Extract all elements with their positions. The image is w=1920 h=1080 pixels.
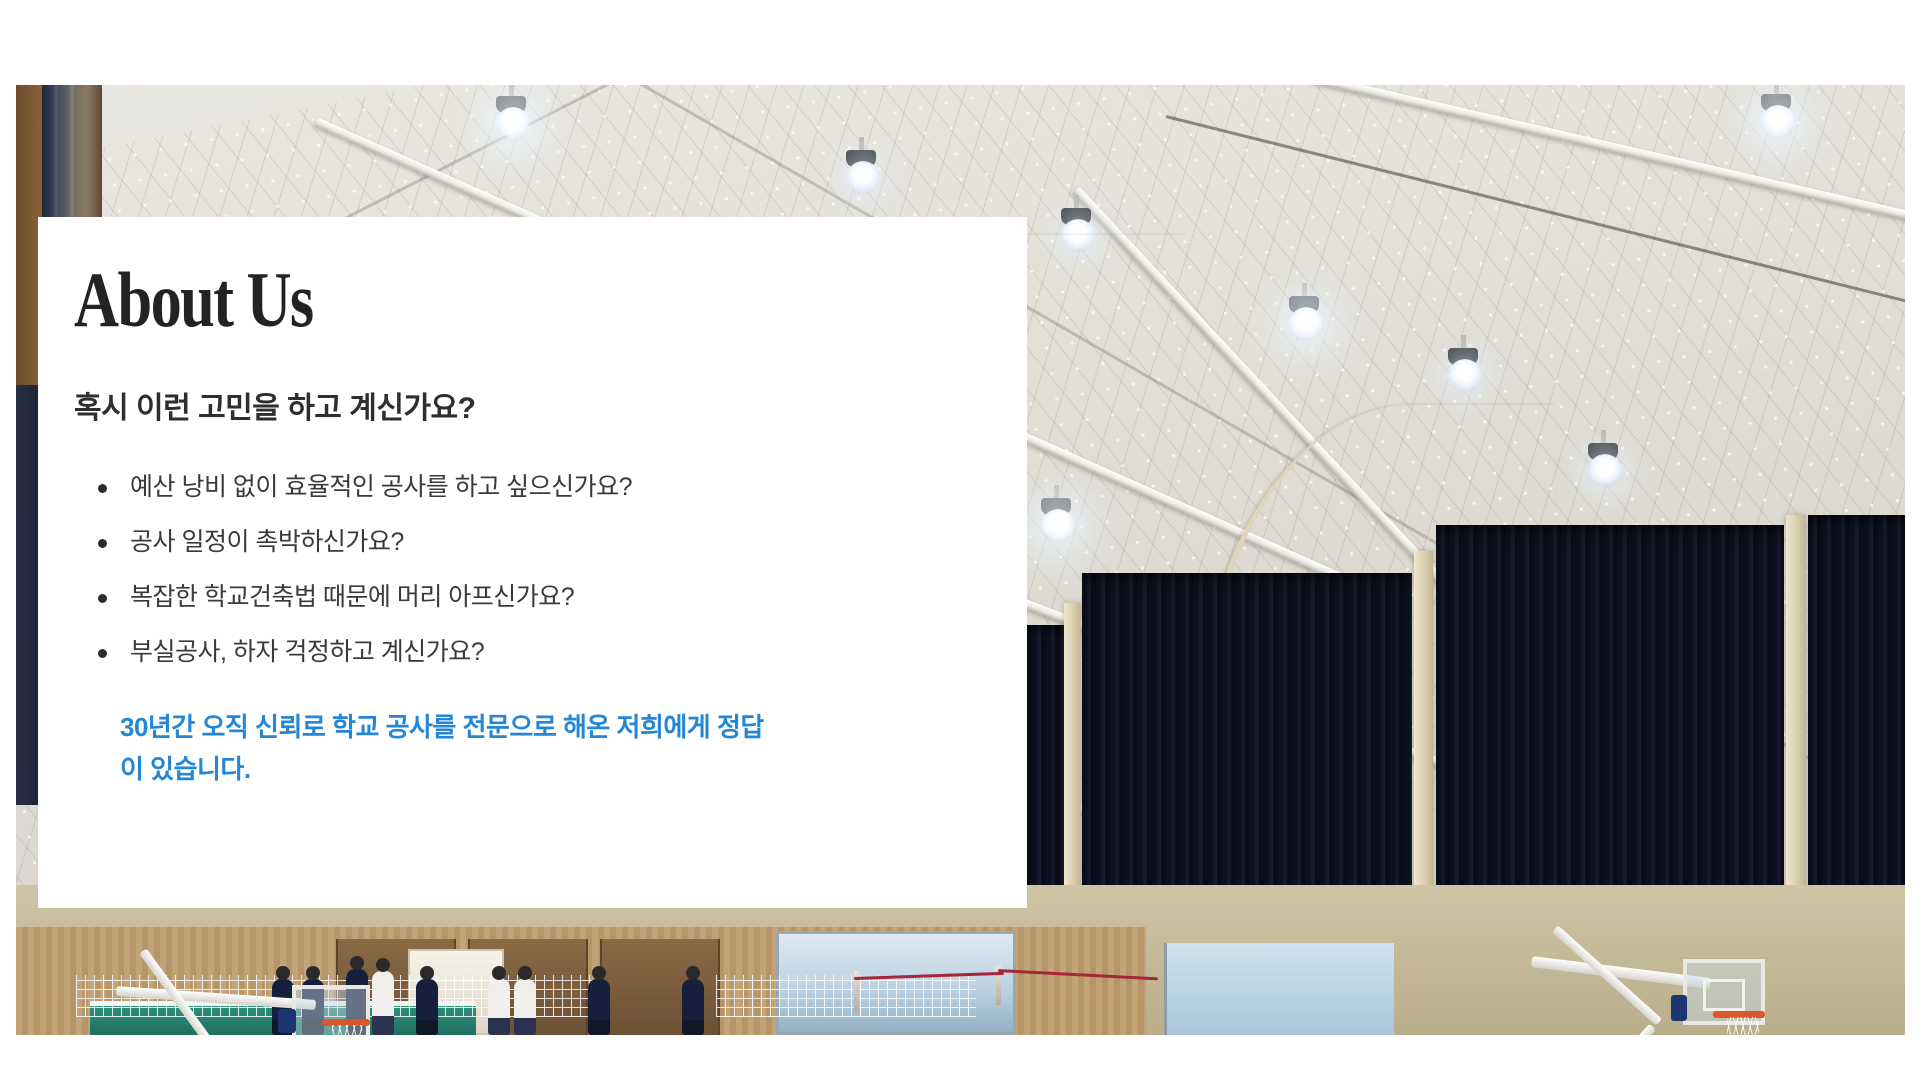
basketball-hoop-right <box>1531 953 1905 1035</box>
page-title: About Us <box>74 261 798 339</box>
ceiling-lamp <box>496 85 526 141</box>
hoop-pad <box>1671 995 1687 1021</box>
card-subheading: 혹시 이런 고민을 하고 계신가요? <box>74 383 979 427</box>
list-item: 부실공사, 하자 걱정하고 계신가요? <box>96 638 979 666</box>
list-item: 공사 일정이 촉박하신가요? <box>96 528 979 556</box>
ceiling-lamp <box>1588 430 1618 488</box>
card-content: About Us 혹시 이런 고민을 하고 계신가요? 예산 낭비 없이 효율적… <box>38 217 1027 790</box>
student-figure <box>682 979 704 1035</box>
highlight-statement: 30년간 오직 신뢰로 학교 공사를 전문으로 해온 저희에게 정답이 있습니다… <box>120 706 780 790</box>
about-us-card: About Us 혹시 이런 고민을 하고 계신가요? 예산 낭비 없이 효율적… <box>38 217 1027 908</box>
student-figure <box>514 979 536 1035</box>
list-item: 복잡한 학교건축법 때문에 머리 아프신가요? <box>96 583 979 611</box>
hoop-arm <box>116 986 316 1010</box>
ceiling-lamp <box>846 137 876 195</box>
window-strip <box>1164 943 1394 1035</box>
student-figure <box>588 979 610 1035</box>
slide-canvas: About Us 혹시 이런 고민을 하고 계신가요? 예산 낭비 없이 효율적… <box>0 0 1920 1080</box>
student-figure <box>416 979 438 1035</box>
ceiling-lamp <box>1761 85 1791 139</box>
hoop-arm <box>1576 1024 1656 1035</box>
basketball-hoop-left <box>76 985 396 1035</box>
volleyball-net <box>716 975 976 1017</box>
hoop-net <box>332 1025 362 1035</box>
student-figure <box>488 979 510 1035</box>
list-item: 예산 낭비 없이 효율적인 공사를 하고 싶으신가요? <box>96 473 979 501</box>
pain-point-list: 예산 낭비 없이 효율적인 공사를 하고 싶으신가요? 공사 일정이 촉박하신가… <box>96 473 979 666</box>
hoop-pad <box>278 1009 296 1033</box>
ceiling-lamp <box>1289 283 1319 341</box>
ceiling-lamp <box>1448 335 1478 393</box>
hoop-net <box>1727 1017 1759 1035</box>
backboard-box <box>1703 979 1745 1011</box>
